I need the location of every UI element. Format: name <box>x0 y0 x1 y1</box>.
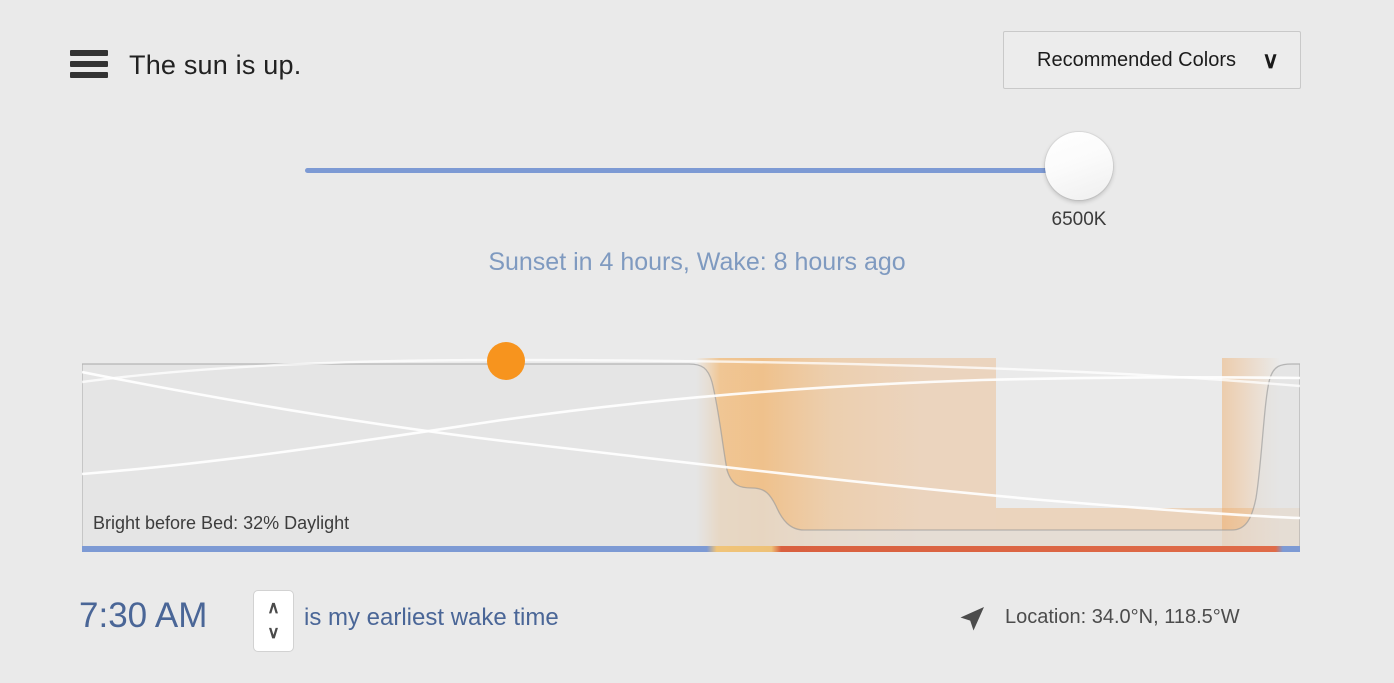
chevron-down-icon[interactable]: ∨ <box>254 623 293 643</box>
color-temperature-slider[interactable] <box>0 126 1394 236</box>
menu-bar-top <box>70 50 108 56</box>
app-header: The sun is up. Recommended Colors ∨ <box>0 0 1394 110</box>
page-title: The sun is up. <box>129 50 301 81</box>
wake-time-stepper[interactable]: ∧ ∨ <box>253 590 294 652</box>
color-temperature-bar[interactable] <box>82 546 1300 552</box>
navigation-arrow-icon <box>958 604 988 634</box>
menu-bar-bottom <box>70 72 108 78</box>
sunset-status-text: Sunset in 4 hours, Wake: 8 hours ago <box>0 248 1394 277</box>
chevron-up-icon[interactable]: ∧ <box>254 598 293 618</box>
recommended-colors-dropdown[interactable]: Recommended Colors ∨ <box>1003 31 1301 89</box>
location-label: Location: 34.0°N, 118.5°W <box>1005 606 1240 629</box>
color-temperature-slider-knob[interactable] <box>1045 132 1113 200</box>
chart-caption: Bright before Bed: 32% Daylight <box>93 513 349 534</box>
wake-time-value[interactable]: 7:30 AM <box>79 596 207 636</box>
menu-bar-middle <box>70 61 108 67</box>
color-temperature-slider-track[interactable] <box>305 168 1080 173</box>
chevron-down-icon: ∨ <box>1262 46 1279 74</box>
recommended-colors-dropdown-label: Recommended Colors <box>1037 49 1236 72</box>
hamburger-menu-icon[interactable] <box>70 50 108 80</box>
sun-position-marker[interactable] <box>487 342 525 380</box>
color-temperature-value: 6500K <box>1020 209 1138 231</box>
wake-time-label: is my earliest wake time <box>304 604 559 632</box>
